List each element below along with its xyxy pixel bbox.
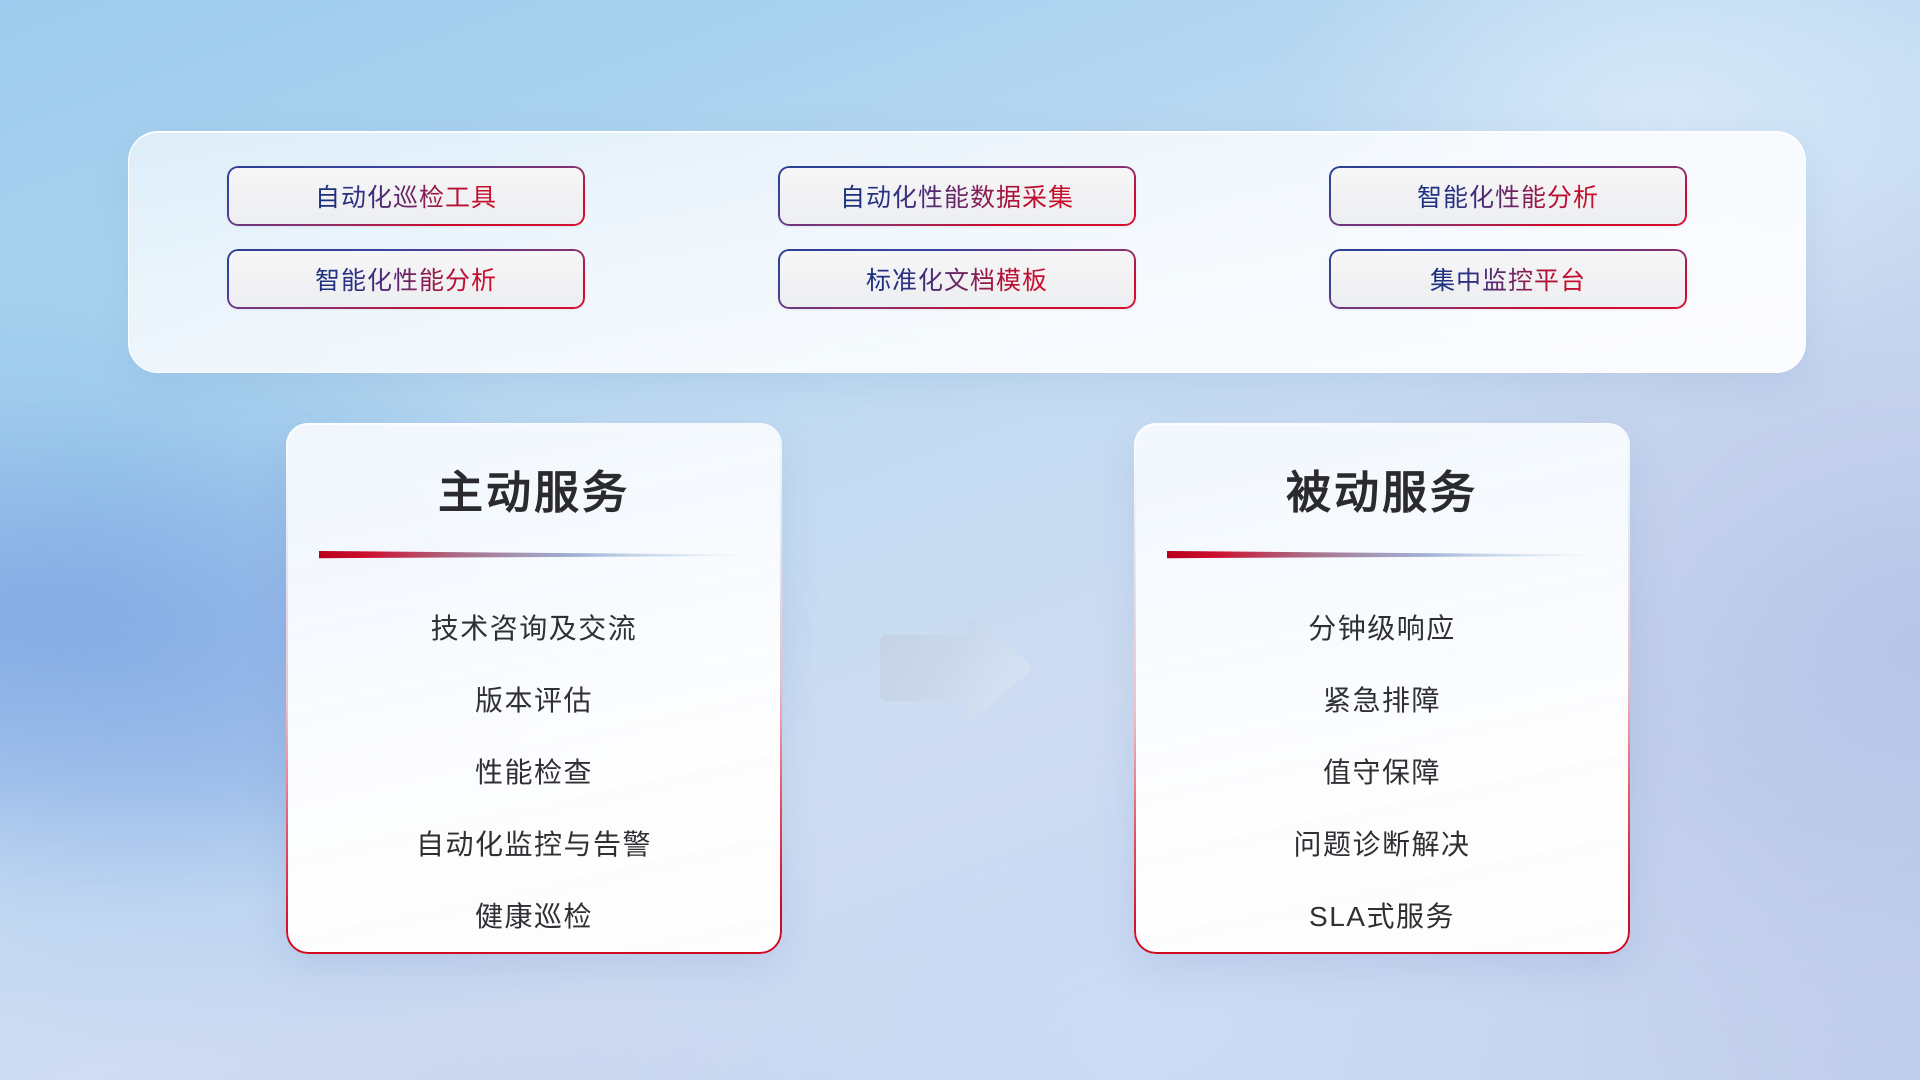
- capability-chip-label: 智能化性能分析: [1417, 178, 1599, 214]
- capability-chip[interactable]: 智能化性能分析: [1329, 166, 1687, 226]
- capability-chip-grid: 自动化巡检工具 自动化性能数据采集 智能化性能分析 智能化性能分析 标准化文档模…: [227, 166, 1709, 309]
- capability-chip-label: 自动化性能数据采集: [840, 178, 1074, 214]
- service-list-item: 问题诊断解决: [1293, 809, 1470, 881]
- capability-chip[interactable]: 自动化性能数据采集: [778, 166, 1136, 226]
- capability-chip[interactable]: 标准化文档模板: [778, 249, 1136, 309]
- capability-chip[interactable]: 集中监控平台: [1329, 249, 1687, 309]
- service-card-proactive: 主动服务 技术咨询及交流 版本评估 性能检查: [286, 423, 782, 954]
- capability-chip[interactable]: 智能化性能分析: [227, 249, 585, 309]
- service-item-list: 分钟级响应 紧急排障 值守保障 问题诊断解决 SLA式服务: [1134, 593, 1630, 953]
- service-list-item: 值守保障: [1323, 737, 1441, 809]
- slide-canvas: 自动化巡检工具 自动化性能数据采集 智能化性能分析 智能化性能分析 标准化文档模…: [0, 0, 1920, 1080]
- service-card-title: 被动服务: [1134, 456, 1630, 521]
- capability-chip-label: 标准化文档模板: [866, 261, 1048, 297]
- capability-chip-label: 智能化性能分析: [315, 261, 497, 297]
- capabilities-panel: 自动化巡检工具 自动化性能数据采集 智能化性能分析 智能化性能分析 标准化文档模…: [128, 131, 1806, 373]
- title-divider: [1167, 549, 1597, 559]
- service-list-item: 性能检查: [475, 737, 593, 809]
- arrow-right-icon: [872, 613, 1034, 723]
- capability-chip-label: 自动化巡检工具: [315, 178, 497, 214]
- service-list-item: SLA式服务: [1309, 881, 1455, 953]
- title-divider: [319, 549, 749, 559]
- service-list-item: 技术咨询及交流: [431, 593, 638, 665]
- service-card-reactive: 被动服务 分钟级响应 紧急排障 值守保障: [1134, 423, 1630, 954]
- service-list-item: 分钟级响应: [1308, 593, 1456, 665]
- capability-chip-label: 集中监控平台: [1430, 261, 1586, 297]
- service-list-item: 自动化监控与告警: [416, 809, 652, 881]
- service-list-item: 紧急排障: [1323, 665, 1441, 737]
- service-card-title: 主动服务: [286, 456, 782, 521]
- service-item-list: 技术咨询及交流 版本评估 性能检查 自动化监控与告警 健康巡检: [286, 593, 782, 953]
- capability-chip[interactable]: 自动化巡检工具: [227, 166, 585, 226]
- service-list-item: 版本评估: [475, 665, 593, 737]
- service-list-item: 健康巡检: [475, 881, 593, 953]
